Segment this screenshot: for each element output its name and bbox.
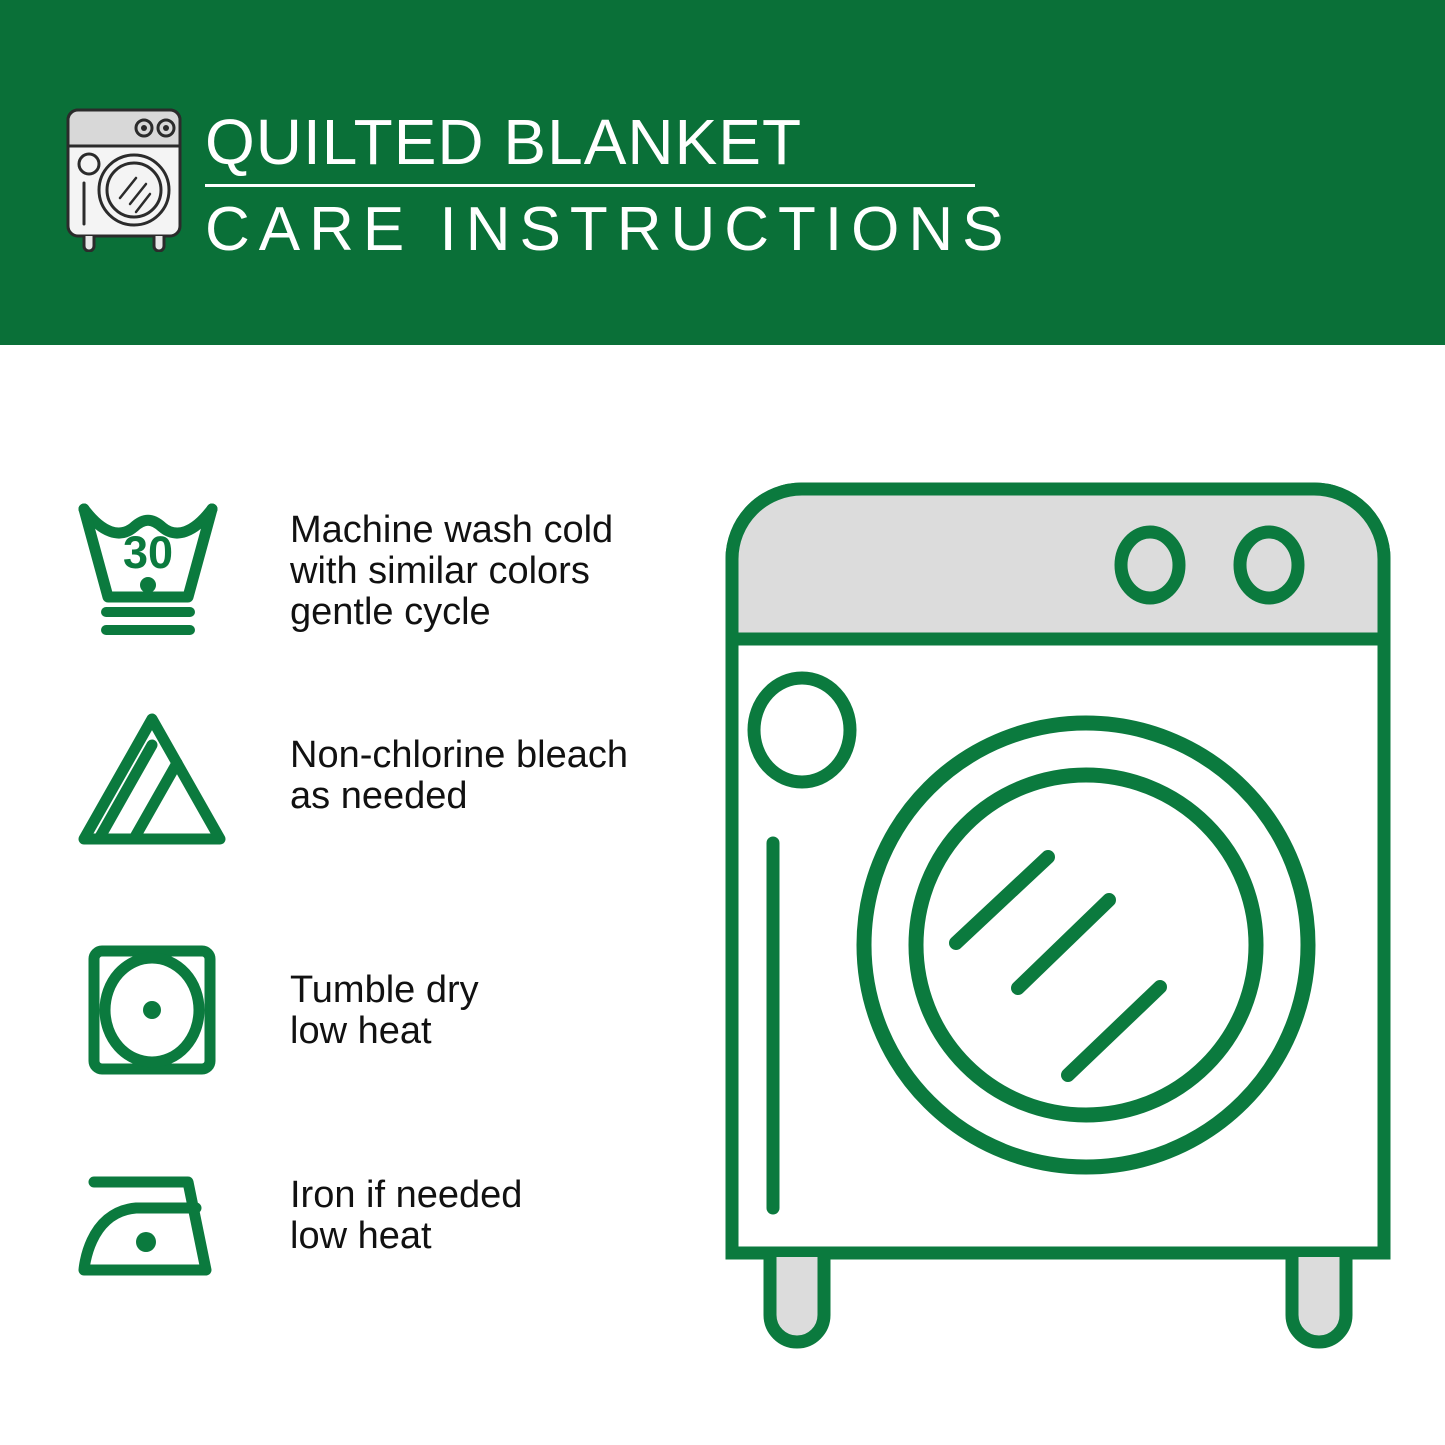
leg-right [1292, 1257, 1346, 1342]
care-line: Tumble dry [290, 970, 690, 1011]
front-load-washing-machine-illustration [718, 475, 1398, 1375]
leg-left [770, 1257, 824, 1342]
title-divider [205, 184, 975, 187]
care-line: Non-chlorine bleach [290, 735, 690, 776]
care-text-tumble-dry: Tumble dry low heat [290, 970, 690, 1052]
page-subtitle: CARE INSTRUCTIONS [205, 193, 995, 267]
low-heat-dot [143, 1001, 161, 1019]
care-instructions-infographic: QUILTED BLANKET CARE INSTRUCTIONS 30 Mac… [0, 0, 1445, 1445]
care-line: with similar colors [290, 551, 690, 592]
knob-left[interactable] [1121, 532, 1179, 598]
non-chlorine-bleach-triangle-icon [72, 705, 232, 855]
care-line: gentle cycle [290, 592, 690, 633]
washing-machine-icon [62, 104, 186, 252]
wash-tub-30-gentle-icon: 30 [72, 493, 232, 643]
care-line: Machine wash cold [290, 510, 690, 551]
care-text-wash: Machine wash cold with similar colors ge… [290, 510, 690, 633]
care-line: low heat [290, 1216, 690, 1257]
wash-temperature-label: 30 [123, 527, 173, 578]
gentle-dot [140, 577, 156, 593]
care-line: Iron if needed [290, 1175, 690, 1216]
care-line: low heat [290, 1011, 690, 1052]
header-text-block: QUILTED BLANKET CARE INSTRUCTIONS [205, 104, 995, 267]
care-text-iron: Iron if needed low heat [290, 1175, 690, 1257]
care-text-bleach: Non-chlorine bleach as needed [290, 735, 690, 817]
tumble-dry-low-icon [72, 935, 232, 1085]
iron-low-heat-icon [72, 1150, 232, 1300]
low-heat-dot [136, 1232, 156, 1252]
care-line: as needed [290, 776, 690, 817]
header-banner: QUILTED BLANKET CARE INSTRUCTIONS [0, 0, 1445, 345]
knob-right[interactable] [1240, 532, 1298, 598]
care-instruction-list: 30 Machine wash cold with similar colors… [0, 345, 700, 1445]
page-title: QUILTED BLANKET [205, 104, 995, 180]
detergent-port[interactable] [754, 678, 850, 782]
